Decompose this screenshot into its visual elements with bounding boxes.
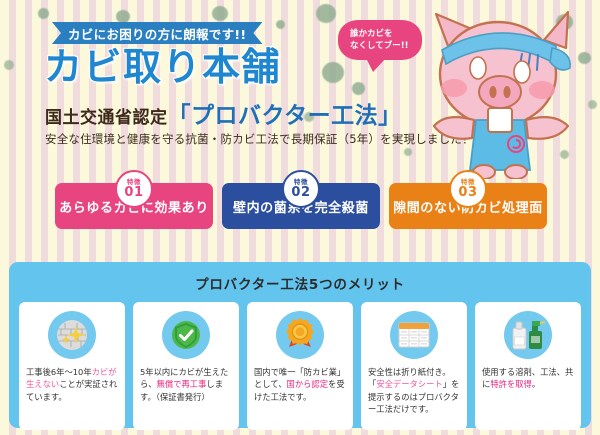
hero-lead-text: 安全な住環境と健康を守る抗菌・防カビ工法で長期保証（5年）を実現しました！ — [45, 131, 474, 147]
merit-text-highlight: 安全データシート — [376, 379, 442, 389]
merits-section: プロバクター工法5つのメリット — [9, 262, 591, 428]
merit-card[interactable]: 5年以内にカビが生えたら、無償で再工事します。（保証書発行） — [133, 302, 239, 430]
feature-badge-number: 02 — [291, 186, 310, 199]
feature-badge-02: 特徴 02 — [282, 170, 320, 208]
hero-subtitle: 国土交通省認定 「プロバクター工法」 — [45, 96, 402, 130]
hero-subtitle-highlight: 「プロバクター工法」 — [168, 96, 402, 130]
merit-card[interactable]: 国内で唯一「防カビ業」として、国から認定を受けた工法です。 — [247, 302, 353, 430]
merit-text-part: 工事後6年〜10年 — [26, 367, 92, 377]
feature-box-03[interactable]: 特徴 03 隙間のない防カビ処理面 — [389, 183, 547, 229]
feature-box-02[interactable]: 特徴 02 壁内の菌糸を完全殺菌 — [222, 183, 380, 229]
merit-card-text: 安全性は折り紙付き。「安全データシート」を提示するのはプロバクター工法だけです。 — [368, 366, 460, 416]
hero-ribbon: カビにお困りの方に朗報です!! — [52, 22, 262, 44]
feature-badge-number: 01 — [124, 186, 143, 199]
page-root: カビにお困りの方に朗報です!! カビ取り本舗 国土交通省認定 「プロバクター工法… — [0, 0, 600, 435]
brick-wall-sparkle-icon — [48, 311, 96, 359]
merit-card-text: 国内で唯一「防カビ業」として、国から認定を受けた工法です。 — [254, 366, 346, 403]
merit-text-part: 。 — [532, 379, 540, 389]
merit-card-list: 工事後6年〜10年カビが生えないことが実証されています。 5年以内にカビが生えた… — [19, 302, 581, 430]
feature-badge-number: 03 — [458, 186, 477, 199]
merit-card-text: 5年以内にカビが生えたら、無償で再工事します。（保証書発行） — [140, 366, 232, 403]
merit-card-text: 使用する溶剤、工法、共に特許を取得。 — [482, 366, 574, 391]
speech-bubble-line1: 誰かカビを — [350, 28, 422, 40]
award-medal-icon — [276, 311, 324, 359]
speech-bubble-line2: なくしてブー!! — [350, 40, 422, 52]
pig-mascot-icon — [418, 4, 588, 179]
shield-check-icon — [162, 311, 210, 359]
merit-card[interactable]: 使用する溶剤、工法、共に特許を取得。 — [475, 302, 581, 430]
hero-ribbon-text: カビにお困りの方に朗報です!! — [68, 24, 246, 43]
hero-subtitle-prefix: 国土交通省認定 — [45, 103, 168, 128]
merit-card[interactable]: 安全性は折り紙付き。「安全データシート」を提示するのはプロバクター工法だけです。 — [361, 302, 467, 430]
feature-badge-03: 特徴 03 — [449, 170, 487, 208]
feature-badge-01: 特徴 01 — [115, 170, 153, 208]
features-section: 特徴 01 あらゆるカビに効果あり 特徴 02 壁内の菌糸を完全殺菌 特徴 03… — [0, 170, 600, 232]
spray-bottle-icon — [504, 311, 552, 359]
merit-text-highlight: 特許を取得 — [490, 379, 532, 389]
page-title: カビ取り本舗 — [44, 48, 281, 88]
speech-bubble: 誰かカビを なくしてブー!! — [338, 20, 422, 60]
data-sheet-icon — [390, 311, 438, 359]
merit-text-highlight: 無償で再工事 — [157, 379, 207, 389]
merit-text-highlight: 国から認定 — [287, 379, 329, 389]
feature-box-01[interactable]: 特徴 01 あらゆるカビに効果あり — [55, 183, 213, 229]
merit-card[interactable]: 工事後6年〜10年カビが生えないことが実証されています。 — [19, 302, 125, 430]
merit-card-text: 工事後6年〜10年カビが生えないことが実証されています。 — [26, 366, 118, 403]
merits-title: プロバクター工法5つのメリット — [19, 273, 581, 293]
